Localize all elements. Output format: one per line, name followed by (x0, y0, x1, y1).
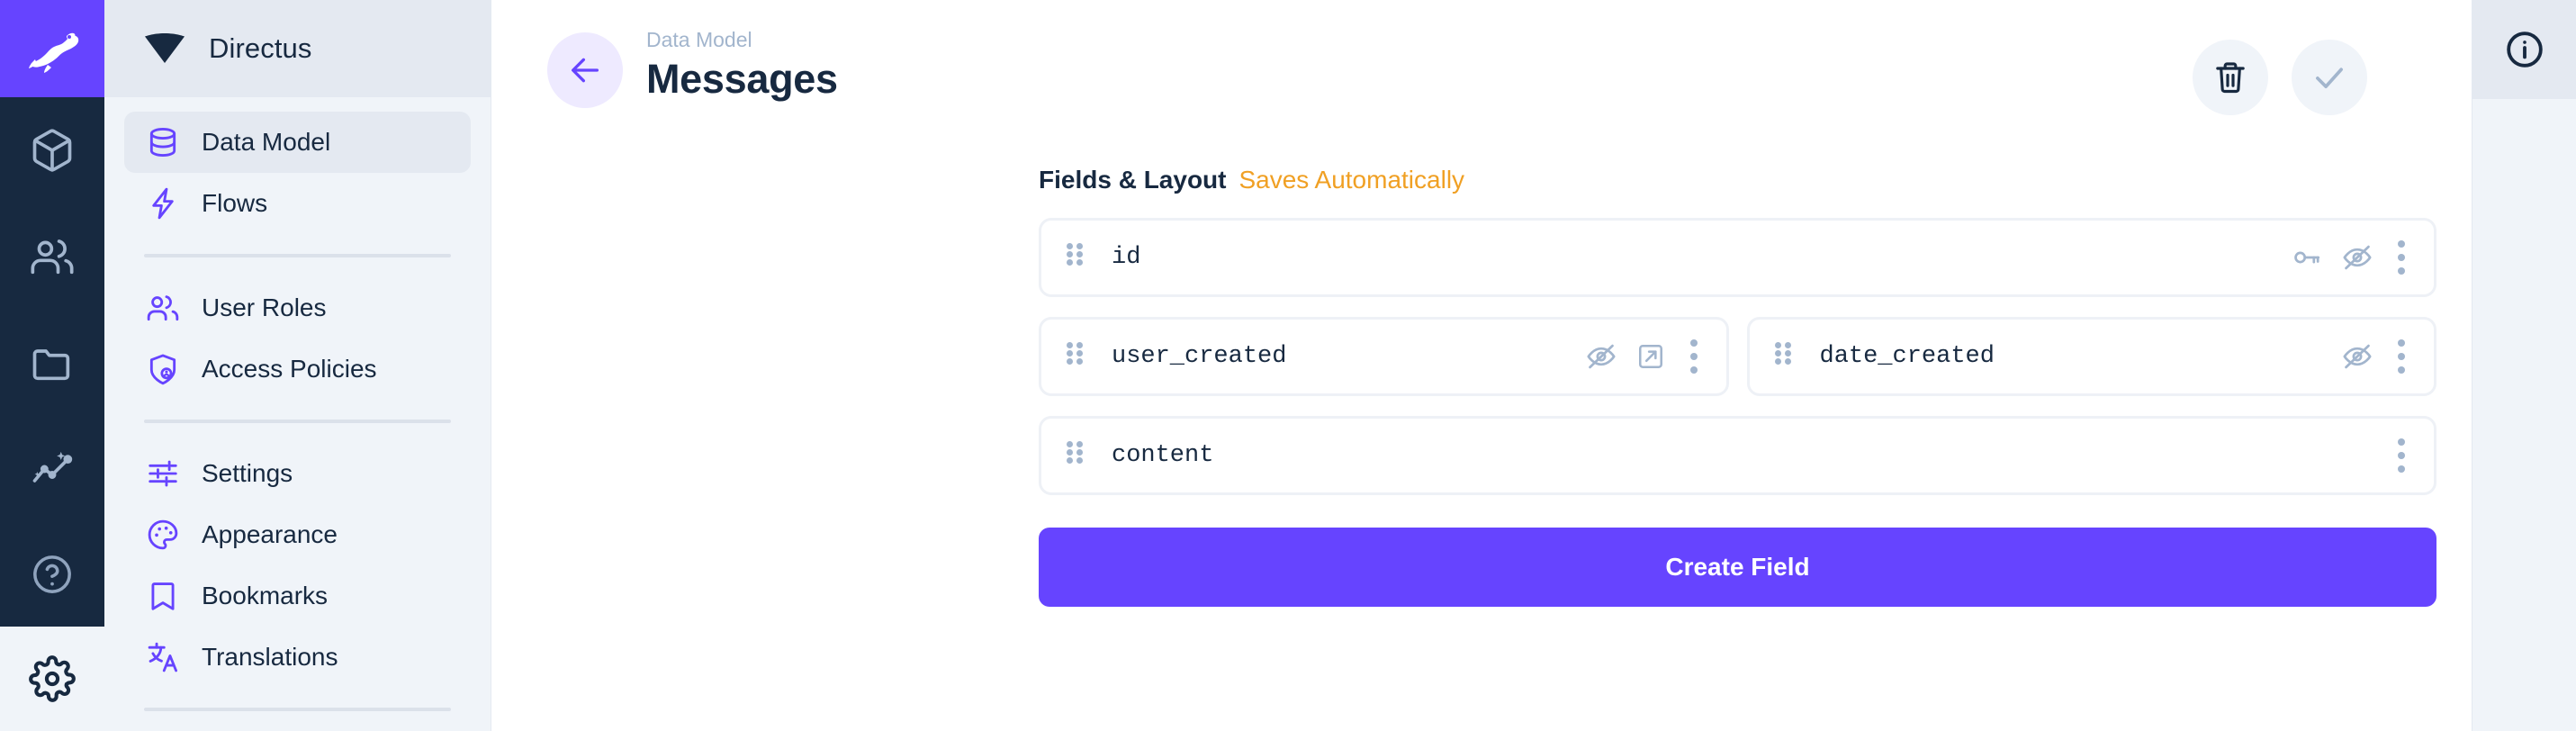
nav-sidebar: Directus Data Model (104, 0, 491, 731)
fields-list: id (1039, 218, 2436, 495)
kebab-menu-icon[interactable] (1685, 336, 1703, 377)
sidebar-item-data-model[interactable]: Data Model (124, 112, 471, 173)
field-name: id (1112, 244, 1140, 271)
field-row: content (1039, 416, 2436, 495)
arrow-left-icon (567, 52, 603, 88)
sidebar-item-bookmarks[interactable]: Bookmarks (124, 565, 471, 627)
field-card-date-created[interactable]: date_created (1747, 317, 2437, 396)
sidebar-item-label: Settings (202, 459, 293, 488)
sidebar-item-access-policies[interactable]: Access Policies (124, 338, 471, 400)
create-field-button[interactable]: Create Field (1039, 528, 2436, 607)
sidebar-item-settings[interactable]: Settings (124, 443, 471, 504)
sidebar-item-flows[interactable]: Flows (124, 173, 471, 234)
module-item-settings[interactable] (0, 627, 104, 731)
module-item-content[interactable] (0, 97, 104, 203)
page-header: Data Model Messages (491, 0, 2472, 99)
sidebar-item-label: User Roles (202, 293, 326, 322)
directus-logo[interactable] (0, 0, 104, 97)
field-name: content (1112, 442, 1213, 469)
shield-user-icon (144, 350, 182, 388)
field-card-content[interactable]: content (1039, 416, 2436, 495)
title-block: Data Model Messages (646, 27, 838, 103)
app-root: Directus Data Model (0, 0, 2576, 731)
field-name: user_created (1112, 343, 1286, 370)
info-button[interactable] (2504, 29, 2545, 70)
right-sidebar (2472, 0, 2576, 731)
breadcrumb[interactable]: Data Model (646, 27, 838, 53)
drag-handle-icon[interactable] (1065, 341, 1092, 372)
bookmark-icon (144, 577, 182, 615)
module-items (0, 97, 104, 522)
directus-rabbit-logo-icon (24, 23, 80, 74)
folder-icon (29, 339, 76, 386)
sidebar-item-user-roles[interactable]: User Roles (124, 277, 471, 338)
kebab-menu-icon[interactable] (2392, 435, 2410, 476)
main-content: Data Model Messages Fields (491, 0, 2472, 731)
eye-off-icon[interactable] (2342, 341, 2373, 372)
nav-header-title: Directus (209, 32, 312, 65)
field-icons (1586, 336, 1703, 377)
section-title: Fields & Layout (1039, 166, 1226, 194)
module-bar (0, 0, 104, 731)
field-icons (2292, 237, 2410, 278)
translate-icon (144, 638, 182, 676)
trash-icon (2212, 59, 2248, 95)
nav-list: Data Model Flows (104, 97, 491, 731)
drag-handle-icon[interactable] (1773, 341, 1800, 372)
users-icon (29, 233, 76, 280)
module-item-insights[interactable] (0, 416, 104, 522)
right-sidebar-header (2472, 0, 2576, 99)
help-circle-icon (30, 552, 75, 597)
sidebar-item-translations[interactable]: Translations (124, 627, 471, 688)
autosave-note: Saves Automatically (1238, 166, 1464, 194)
nav-divider (144, 254, 451, 257)
module-item-help[interactable] (0, 522, 104, 627)
directus-cone-icon (144, 33, 185, 64)
sidebar-item-label: Flows (202, 189, 267, 218)
header-actions (2193, 40, 2367, 115)
sidebar-item-label: Data Model (202, 128, 330, 157)
field-card-user-created[interactable]: user_created (1039, 317, 1729, 396)
field-row: user_created (1039, 317, 2436, 396)
delete-collection-button[interactable] (2193, 40, 2268, 115)
box-icon (29, 127, 76, 174)
sliders-icon (144, 455, 182, 492)
nav-divider (144, 420, 451, 423)
back-button[interactable] (547, 32, 623, 108)
sidebar-item-label: Bookmarks (202, 582, 328, 610)
database-icon (144, 123, 182, 161)
key-icon[interactable] (2292, 242, 2322, 273)
field-row: id (1039, 218, 2436, 297)
page-title: Messages (646, 56, 838, 103)
drag-handle-icon[interactable] (1065, 440, 1092, 471)
sidebar-item-appearance[interactable]: Appearance (124, 504, 471, 565)
field-name: date_created (1820, 343, 1995, 370)
module-item-file-library[interactable] (0, 310, 104, 416)
nav-header[interactable]: Directus (104, 0, 491, 97)
save-button[interactable] (2292, 40, 2367, 115)
external-link-icon[interactable] (1636, 342, 1665, 371)
kebab-menu-icon[interactable] (2392, 237, 2410, 278)
bolt-icon (144, 185, 182, 222)
eye-off-icon[interactable] (1586, 341, 1617, 372)
insights-icon (29, 446, 76, 492)
drag-handle-icon[interactable] (1065, 242, 1092, 273)
sidebar-item-label: Translations (202, 643, 338, 672)
module-item-user-directory[interactable] (0, 203, 104, 310)
kebab-menu-icon[interactable] (2392, 336, 2410, 377)
sidebar-item-label: Appearance (202, 520, 338, 549)
section-header: Fields & Layout Saves Automatically (1039, 166, 2472, 194)
field-card-id[interactable]: id (1039, 218, 2436, 297)
info-circle-icon (2504, 29, 2545, 70)
field-icons (2392, 435, 2410, 476)
field-icons (2342, 336, 2410, 377)
sidebar-item-label: Access Policies (202, 355, 377, 384)
check-icon (2310, 59, 2348, 96)
gear-icon (29, 655, 76, 702)
eye-off-icon[interactable] (2342, 242, 2373, 273)
nav-divider (144, 708, 451, 711)
people-icon (144, 289, 182, 327)
palette-icon (144, 516, 182, 554)
